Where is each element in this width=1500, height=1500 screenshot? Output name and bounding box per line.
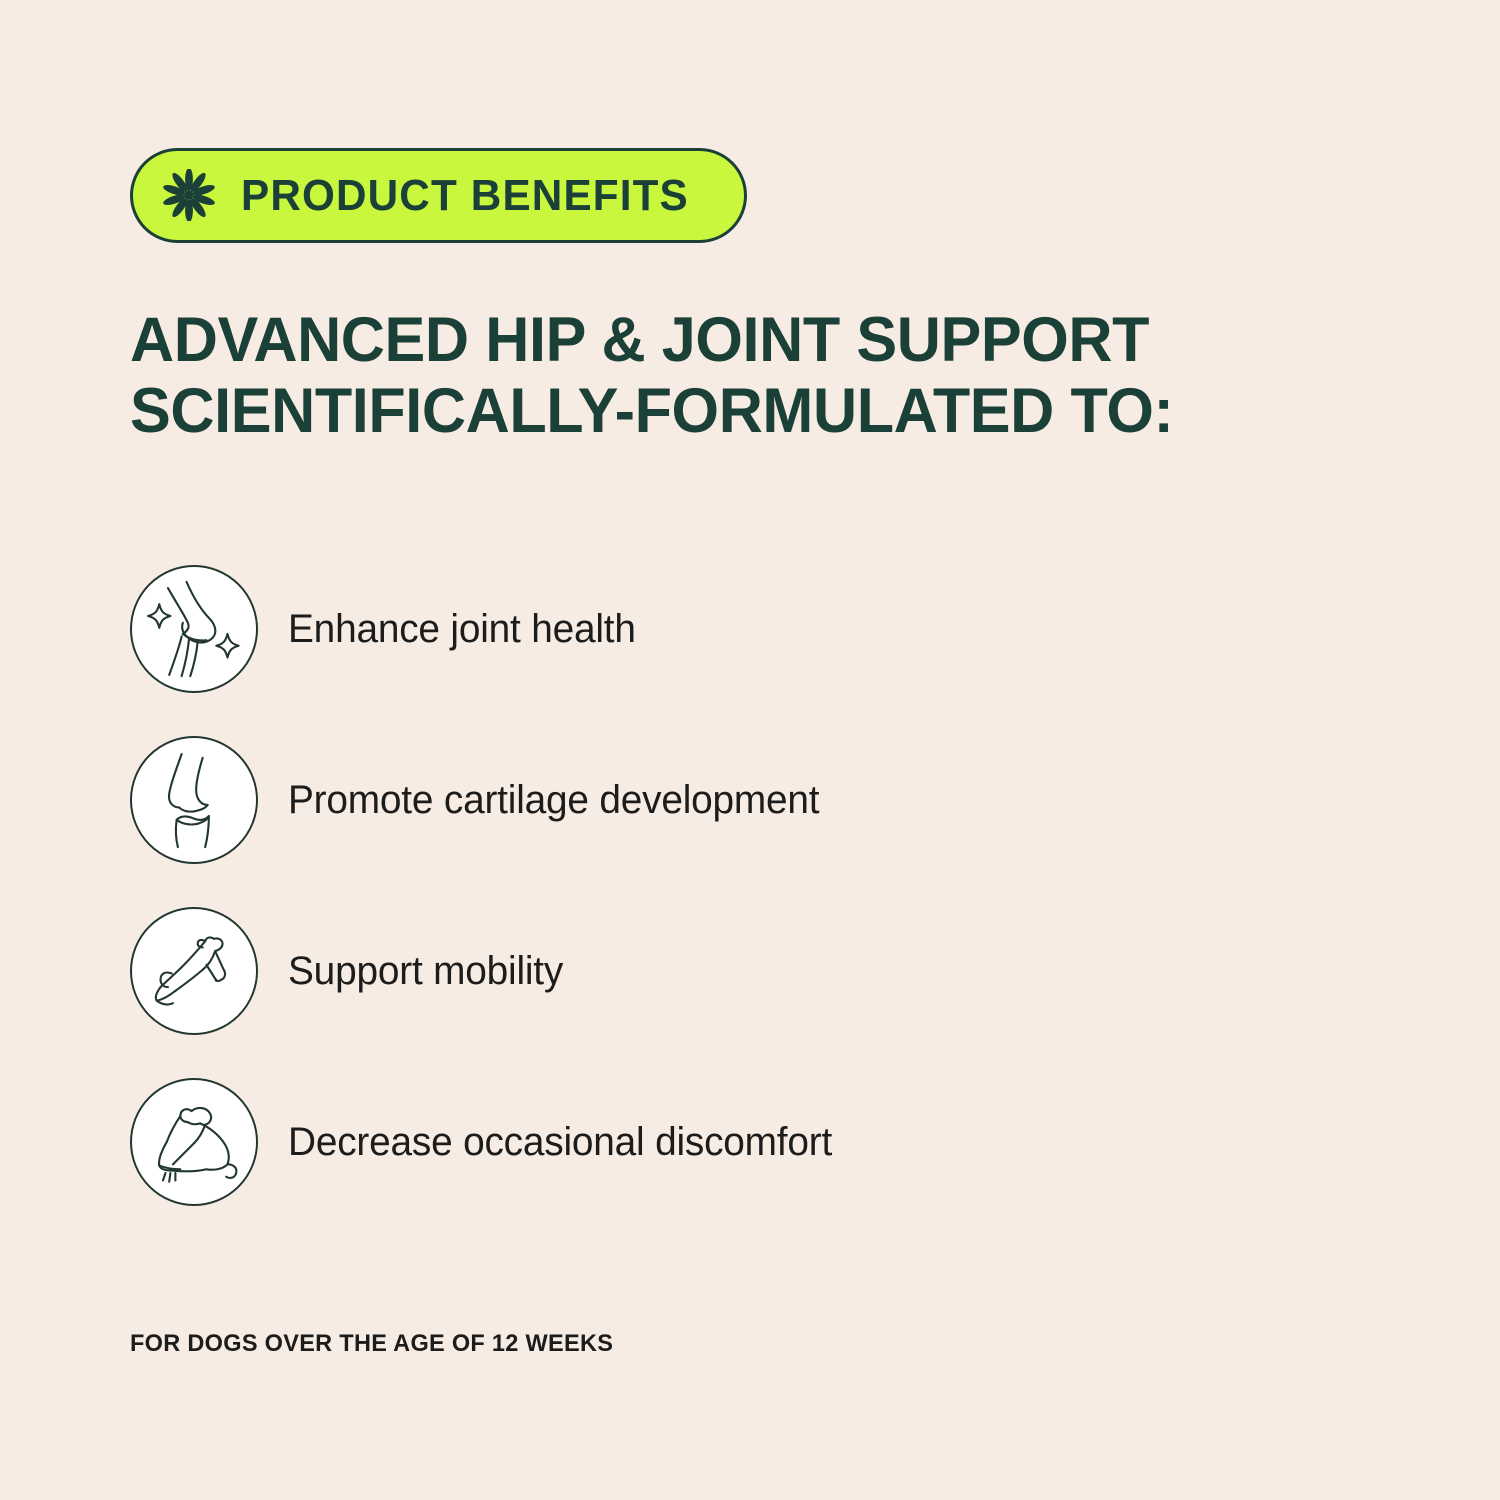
product-benefits-badge: PRODUCT BENEFITS (130, 148, 747, 243)
benefit-icon-circle (130, 565, 258, 693)
benefit-icon-circle (130, 1078, 258, 1206)
benefit-label: Decrease occasional discomfort (288, 1120, 832, 1164)
badge-label: PRODUCT BENEFITS (241, 174, 689, 218)
list-item: Promote cartilage development (130, 736, 1390, 864)
list-item: Support mobility (130, 907, 1390, 1035)
page-title: ADVANCED HIP & JOINT SUPPORT SCIENTIFICA… (130, 305, 1352, 446)
resting-dog-icon (132, 1080, 256, 1204)
page-title-line-1: ADVANCED HIP & JOINT SUPPORT (130, 305, 1352, 376)
joint-bone-sparkle-icon (132, 567, 256, 691)
leaping-dog-icon (132, 909, 256, 1033)
age-disclaimer: FOR DOGS OVER THE AGE OF 12 WEEKS (130, 1330, 613, 1358)
benefit-icon-circle (130, 907, 258, 1035)
benefit-label: Support mobility (288, 949, 563, 993)
badge-container: PRODUCT BENEFITS (130, 148, 747, 243)
product-benefits-panel: PRODUCT BENEFITS ADVANCED HIP & JOINT SU… (0, 0, 1500, 1500)
list-item: Enhance joint health (130, 565, 1390, 693)
asterisk-flower-icon (163, 169, 215, 221)
benefit-icon-circle (130, 736, 258, 864)
page-title-line-2: SCIENTIFICALLY-FORMULATED TO: (130, 376, 1352, 447)
benefit-label: Promote cartilage development (288, 778, 819, 822)
benefits-list: Enhance joint health (130, 565, 1390, 1249)
list-item: Decrease occasional discomfort (130, 1078, 1390, 1206)
benefit-label: Enhance joint health (288, 607, 636, 651)
knee-cartilage-icon (132, 738, 256, 862)
